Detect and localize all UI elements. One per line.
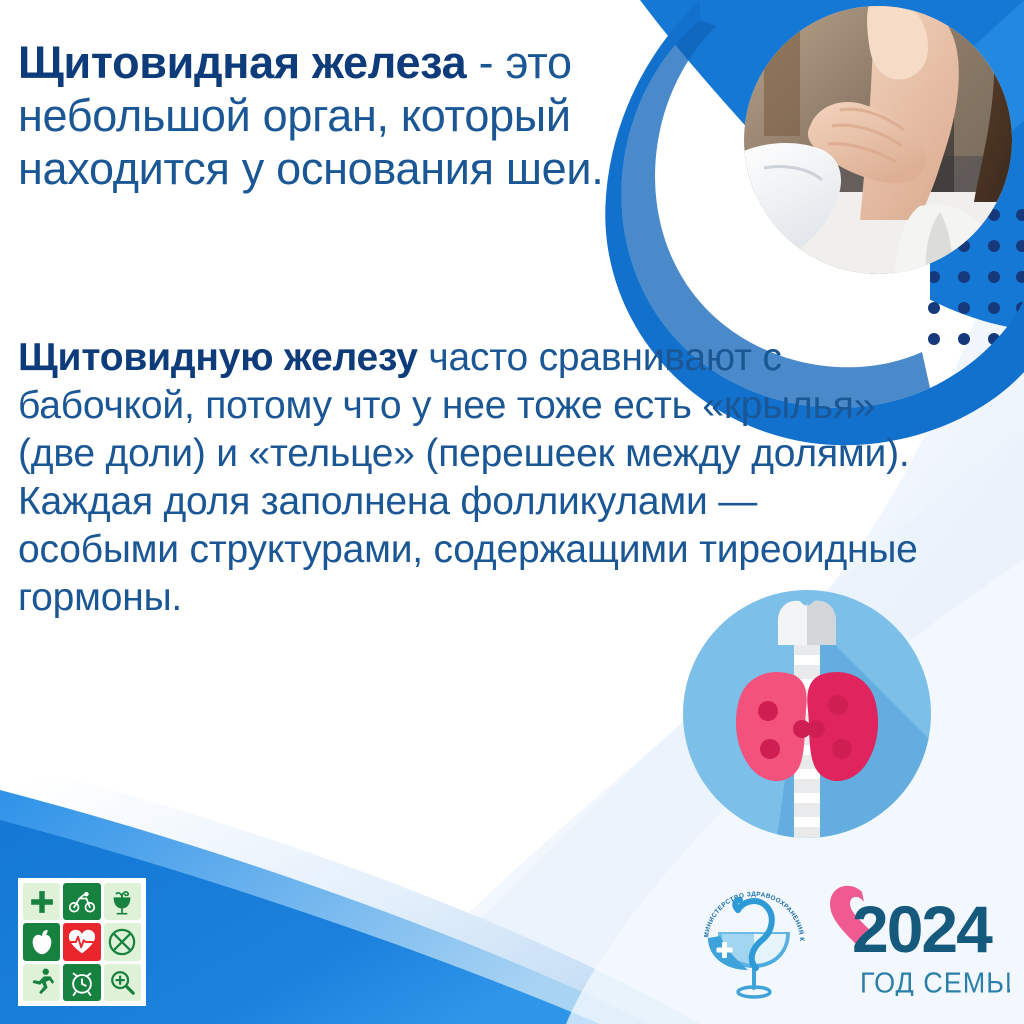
ministry-emblem: МИНИСТЕРСТВО ЗДРАВООХРАНЕНИЯ КРАСНОДАРСК… [694,876,814,1006]
year-of-family-logo: 2024 ГОД СЕМЬИ [826,878,1010,996]
apple-icon [23,923,60,960]
alarm-clock-icon [63,964,100,1001]
thyroid-gland-icon [676,583,938,845]
medical-cross-icon [23,883,60,920]
year-of-family-graphic: 2024 ГОД СЕМЬИ [826,878,1010,996]
neck-photo-illustration [744,6,1012,274]
body-paragraph-bold: Щитовидную железу [18,336,418,379]
poster-root: Щитовидная железа - это небольшой орган,… [0,0,1024,1024]
lead-paragraph: Щитовидная железа - это небольшой орган,… [18,36,638,195]
running-man-icon [23,964,60,1001]
body-paragraph: Щитовидную железу часто сравнивают с баб… [18,334,918,622]
cyclist-icon [63,883,100,920]
thyroid-gland-illustration [676,583,938,845]
magnifier-plus-icon [104,964,141,1001]
health-icons-grid [18,878,146,1006]
heart-ecg-icon [63,923,100,960]
lead-paragraph-bold: Щитовидная железа [18,37,466,88]
neck-photo [744,6,1012,274]
year-number: 2024 [852,892,993,966]
ministry-emblem-ring-text: МИНИСТЕРСТВО ЗДРАВООХРАНЕНИЯ КРАСНОДАРСК… [694,876,805,942]
ministry-emblem-graphic: МИНИСТЕРСТВО ЗДРАВООХРАНЕНИЯ КРАСНОДАРСК… [694,876,814,1006]
bowl-of-hygieia-icon [104,883,141,920]
year-caption: ГОД СЕМЬИ [860,967,1010,996]
no-smoking-icon [104,923,141,960]
